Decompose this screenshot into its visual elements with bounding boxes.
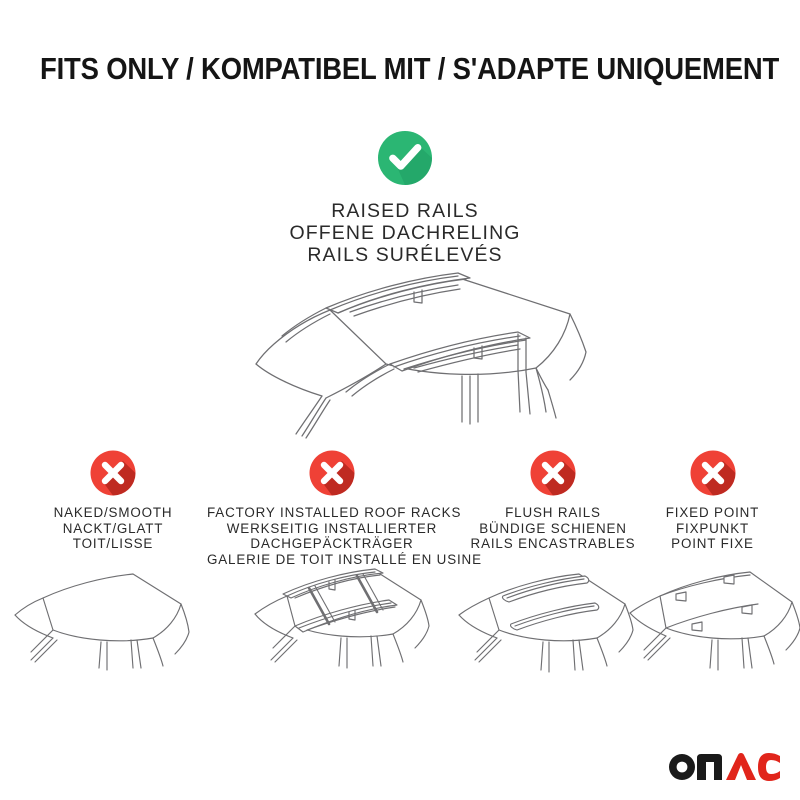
compatible-section: RAISED RAILS OFFENE DACHRELING RAILS SUR… — [205, 130, 605, 266]
label-line-2: NACKT/GLATT — [13, 521, 213, 537]
compatible-label-de: OFFENE DACHRELING — [205, 222, 605, 244]
x-circle-icon — [90, 450, 136, 496]
incompatible-item-fixed-point: FIXED POINT FIXPUNKT POINT FIXE — [625, 450, 800, 552]
label-line-2: FIXPUNKT — [625, 521, 800, 537]
omac-logo — [668, 752, 780, 782]
label-line-3: POINT FIXE — [625, 536, 800, 552]
page-title: FITS ONLY / KOMPATIBEL MIT / S'ADAPTE UN… — [40, 52, 760, 87]
label-line-3: DACHGEPÄCKTRÄGER — [207, 536, 457, 552]
incompatible-labels: FIXED POINT FIXPUNKT POINT FIXE — [625, 505, 800, 552]
label-line-1: NAKED/SMOOTH — [13, 505, 213, 521]
car-roof-factory-roof-racks-illustration — [225, 556, 437, 678]
x-circle-icon — [309, 450, 355, 496]
label-line-1: FIXED POINT — [625, 505, 800, 521]
compatible-labels: RAISED RAILS OFFENE DACHRELING RAILS SUR… — [205, 200, 605, 266]
car-roof-naked-smooth-illustration — [5, 568, 195, 678]
label-line-2: WERKSEITIG INSTALLIERTER — [207, 521, 457, 537]
x-circle-icon — [530, 450, 576, 496]
label-line-1: FACTORY INSTALLED ROOF RACKS — [207, 505, 457, 521]
incompatible-item-factory-racks: FACTORY INSTALLED ROOF RACKS WERKSEITIG … — [207, 450, 457, 567]
car-roof-raised-rails-illustration — [218, 272, 598, 447]
incompatible-item-naked-smooth: NAKED/SMOOTH NACKT/GLATT TOIT/LISSE — [13, 450, 213, 552]
car-roof-fixed-point-illustration — [620, 560, 800, 678]
incompatible-labels: NAKED/SMOOTH NACKT/GLATT TOIT/LISSE — [13, 505, 213, 552]
compatible-label-fr: RAILS SURÉLEVÉS — [205, 244, 605, 266]
check-circle-icon — [377, 130, 433, 186]
compatible-label-en: RAISED RAILS — [205, 200, 605, 222]
fitment-infographic: FITS ONLY / KOMPATIBEL MIT / S'ADAPTE UN… — [0, 0, 800, 800]
label-line-3: TOIT/LISSE — [13, 536, 213, 552]
car-roof-flush-rails-illustration — [445, 566, 645, 678]
x-circle-icon — [690, 450, 736, 496]
